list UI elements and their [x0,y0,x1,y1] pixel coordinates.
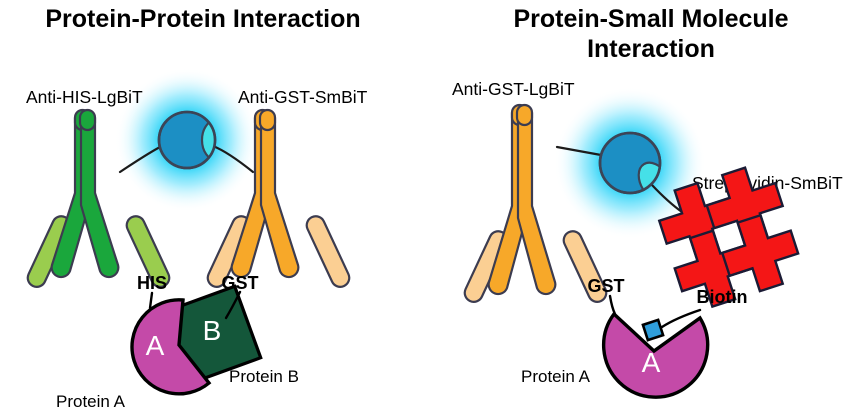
panel-title-protein-protein: Protein-Protein Interaction [45,5,360,33]
label-protein-a-right: Protein A [521,367,591,386]
diagram-canvas: Protein-Protein Interaction Protein-Smal… [0,0,865,414]
label-gst-tag: GST [221,273,258,293]
label-protein-b: Protein B [229,367,299,386]
antibody-light-chain-right [304,213,352,289]
label-anti-gst-lgbit: Anti-GST-LgBiT [452,79,575,99]
label-protein-a-left: Protein A [56,392,126,411]
label-gst-tag-right: GST [587,276,624,296]
biotin-square[interactable] [643,320,663,340]
tag-line-his [150,293,152,308]
panel-title-protein-small-molecule-line1: Protein-Small Molecule [513,5,788,33]
label-anti-gst-smbit: Anti-GST-SmBiT [238,87,368,107]
antibody-heavy-chain-right [517,105,555,294]
antibody-heavy-chain-right [260,110,298,277]
protein-a-glyph-right: A [642,347,661,378]
protein-a-glyph: A [146,330,165,361]
label-anti-his-lgbit: Anti-HIS-LgBiT [26,87,143,107]
figure-root: Protein-Protein Interaction Protein-Smal… [0,0,865,414]
label-biotin: Biotin [697,287,748,307]
label-his-tag: HIS [137,273,167,293]
tag-line-gst-right [610,296,615,314]
protein-b-glyph: B [203,315,222,346]
panel-title-protein-small-molecule-line2: Interaction [587,35,715,63]
antibody-heavy-chain-right [80,110,118,277]
